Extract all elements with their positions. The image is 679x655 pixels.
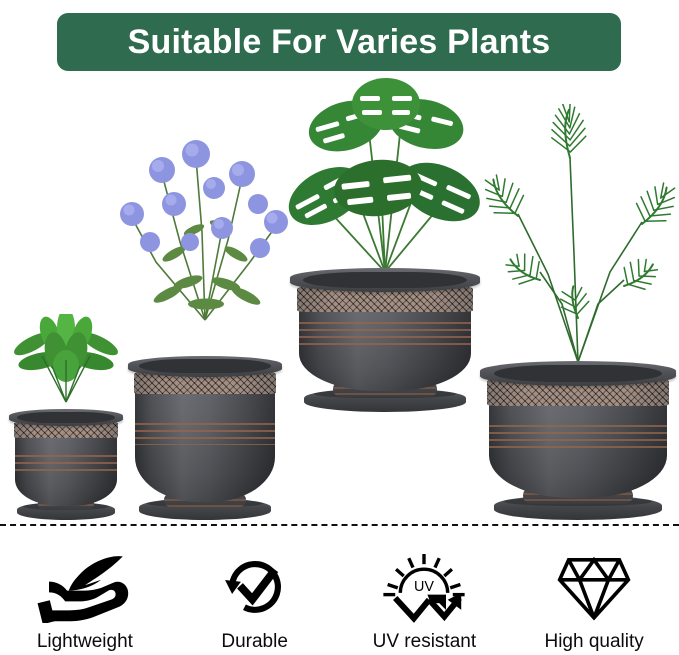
pot-copper-stripes <box>135 423 275 445</box>
pot-group-extra-small[interactable] <box>6 390 126 520</box>
feature-lightweight: Lightweight <box>0 534 170 655</box>
large-pot[interactable] <box>480 350 676 520</box>
small-pot[interactable] <box>126 308 284 520</box>
pot-copper-stripes <box>15 455 117 471</box>
pot-rim <box>290 268 480 292</box>
pot-group-large[interactable] <box>480 350 676 520</box>
header-banner: Suitable For Varies Plants <box>57 13 621 71</box>
hand-feather-icon <box>35 548 135 626</box>
pot-rim <box>480 361 676 386</box>
pot-copper-stripes <box>489 425 667 451</box>
feature-label: Durable <box>221 632 288 651</box>
feature-label: UV resistant <box>373 632 476 651</box>
diamond-icon <box>556 548 632 626</box>
checkmark-circle-arrow-icon <box>218 548 292 626</box>
medium-pot[interactable] <box>288 260 482 412</box>
purple-flowering-plant <box>110 122 300 322</box>
section-divider <box>0 524 679 526</box>
banner-title: Suitable For Varies Plants <box>128 25 551 59</box>
pot-group-medium[interactable] <box>288 260 482 520</box>
pot-rim <box>9 409 123 426</box>
feature-label: High quality <box>544 632 643 651</box>
uv-icon-text: UV <box>414 579 434 595</box>
feature-uv-resistant: UV UV resistant <box>340 534 510 655</box>
extra-small-pot[interactable] <box>6 390 126 520</box>
feature-high-quality: High quality <box>509 534 679 655</box>
feature-label: Lightweight <box>37 632 133 651</box>
pot-rim <box>128 356 282 377</box>
product-stage <box>0 80 679 520</box>
feature-list: Lightweight Durable UV <box>0 534 679 655</box>
pot-group-small[interactable] <box>126 308 284 520</box>
uv-sun-arrows-icon: UV <box>380 548 468 626</box>
feature-durable: Durable <box>170 534 340 655</box>
monstera-plant <box>280 64 490 274</box>
areca-palm-plant <box>478 104 678 364</box>
pot-copper-stripes <box>299 322 471 346</box>
